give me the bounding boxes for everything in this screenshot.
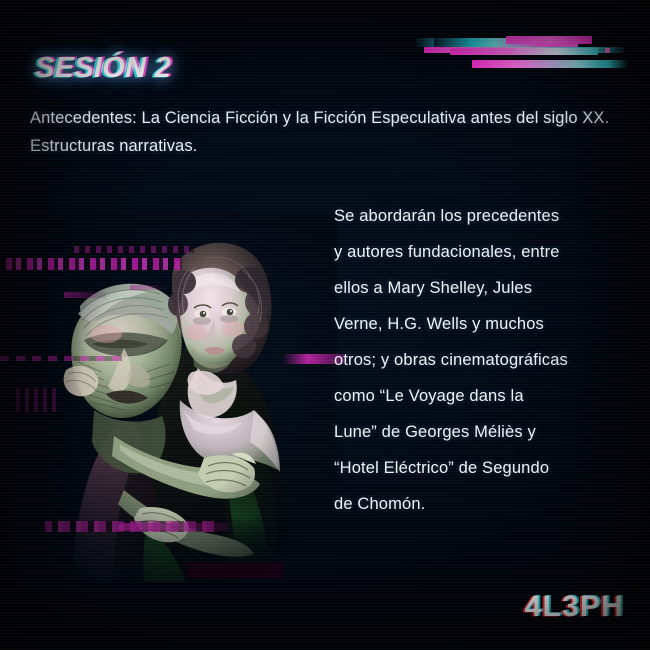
description-line: de Chomón. <box>334 486 634 522</box>
description-line: otros; y obras cinematográficas <box>334 342 634 378</box>
brand-logo: 4L3PH <box>525 590 624 624</box>
page-title: SESIÓN 2 <box>35 52 171 85</box>
glitch-bar <box>450 48 598 55</box>
description-line: “Hotel Eléctrico” de Segundo <box>334 450 634 486</box>
description-line: Verne, H.G. Wells y muchos <box>334 306 634 342</box>
description-line: Se abordarán los precedentes <box>334 198 634 234</box>
poster-canvas: SESIÓN 2 Antecedentes: La Ciencia Ficció… <box>0 0 650 650</box>
description-line: Lune” de Georges Méliès y <box>334 414 634 450</box>
glitch-bars <box>410 0 650 95</box>
description-line: y autores fundacionales, entre <box>334 234 634 270</box>
description-line: ellos a Mary Shelley, Jules <box>334 270 634 306</box>
glitch-bar <box>506 36 592 44</box>
description-line: como “Le Voyage dans la <box>334 378 634 414</box>
glitch-bar <box>472 60 628 68</box>
glitch-dot <box>605 48 610 53</box>
session-description: Se abordarán los precedentes y autores f… <box>334 198 634 522</box>
session-subtitle: Antecedentes: La Ciencia Ficción y la Fi… <box>30 104 620 160</box>
frankenstein-monster-and-woman-illustration <box>28 222 328 582</box>
session-title: SESIÓN 2 <box>35 52 171 85</box>
